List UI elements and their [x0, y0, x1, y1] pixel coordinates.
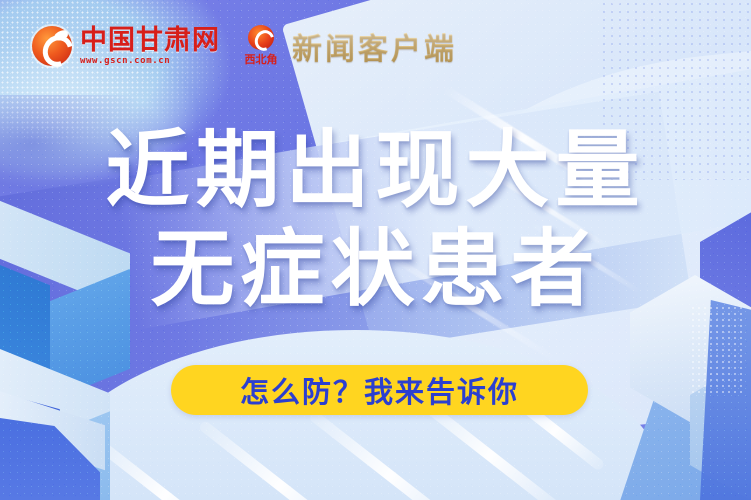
xibeijiao-swirl-logo-icon: 西北角 [238, 25, 284, 67]
xibeijiao-swirl-glyph [248, 25, 274, 50]
poster-canvas: 中国甘肃网 www.gscn.com.cn 西北角 新闻客户端 近期出现大量 无… [0, 0, 751, 500]
site-logo[interactable]: 中国甘肃网 www.gscn.com.cn [32, 26, 220, 66]
header-branding-bar: 中国甘肃网 www.gscn.com.cn 西北角 新闻客户端 [0, 0, 751, 92]
site-url: www.gscn.com.cn [80, 57, 220, 66]
gansu-net-swirl-logo-icon [32, 26, 72, 66]
app-name-label: 新闻客户端 [292, 24, 457, 68]
site-logo-text: 中国甘肃网 www.gscn.com.cn [80, 27, 220, 66]
xibeijiao-label: 西北角 [245, 51, 278, 67]
app-logo-group[interactable]: 西北角 新闻客户端 [238, 24, 457, 68]
callout-text: 怎么防？我来告诉你 [240, 369, 519, 411]
site-name-cn: 中国甘肃网 [80, 27, 220, 54]
callout-pill[interactable]: 怎么防？我来告诉你 [171, 365, 588, 415]
